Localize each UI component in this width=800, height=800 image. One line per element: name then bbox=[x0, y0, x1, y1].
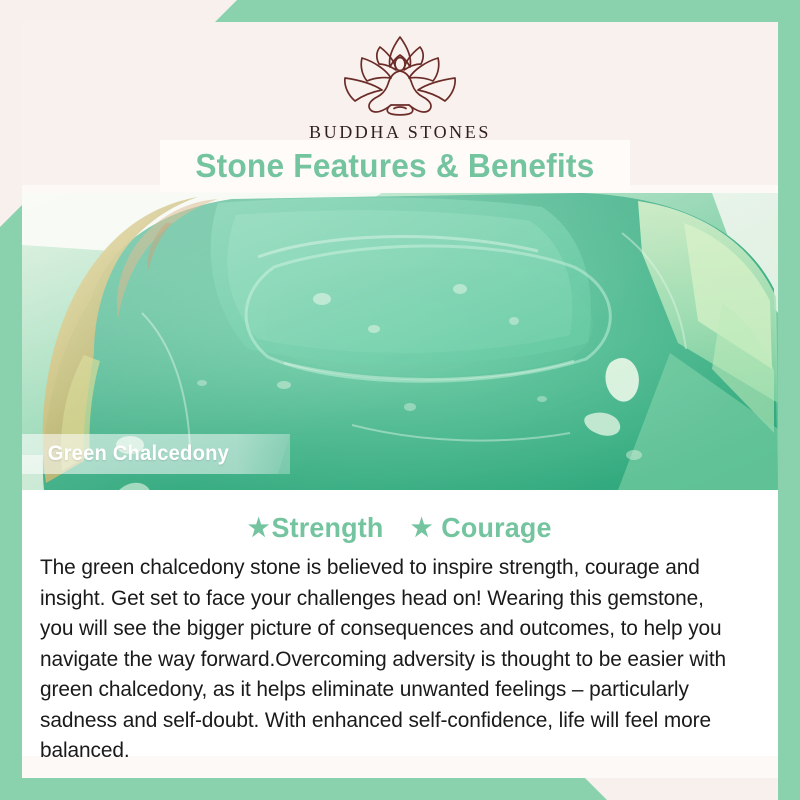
star-icon: ★ bbox=[248, 516, 270, 541]
decorative-bar-bottom bbox=[0, 778, 800, 800]
stone-photo: Green Chalcedony bbox=[22, 193, 778, 490]
decorative-bar-right bbox=[778, 0, 800, 800]
star-icon: ★ bbox=[411, 516, 433, 541]
lotus-meditation-icon bbox=[334, 30, 466, 118]
benefit-keyword-courage-label: Courage bbox=[442, 512, 552, 544]
title-banner: Stone Features & Benefits bbox=[160, 140, 630, 192]
benefit-keywords: ★ Strength ★ Courage bbox=[40, 512, 760, 544]
benefit-keyword-strength-label: Strength bbox=[271, 512, 383, 544]
benefit-keyword-strength: ★ Strength bbox=[248, 512, 384, 544]
stone-caption: Green Chalcedony bbox=[22, 434, 290, 474]
page-title: Stone Features & Benefits bbox=[195, 147, 594, 185]
benefits-card: ★ Strength ★ Courage The green chalcedon… bbox=[22, 490, 778, 756]
decorative-bar-left bbox=[0, 205, 22, 800]
benefit-keyword-courage: ★ Courage bbox=[411, 512, 552, 544]
benefits-description: The green chalcedony stone is believed t… bbox=[40, 552, 738, 766]
stone-caption-label: Green Chalcedony bbox=[48, 442, 229, 466]
decorative-bar-top bbox=[215, 0, 800, 22]
poster-root: BUDDHA STONES Stone Features & Benefits bbox=[0, 0, 800, 800]
